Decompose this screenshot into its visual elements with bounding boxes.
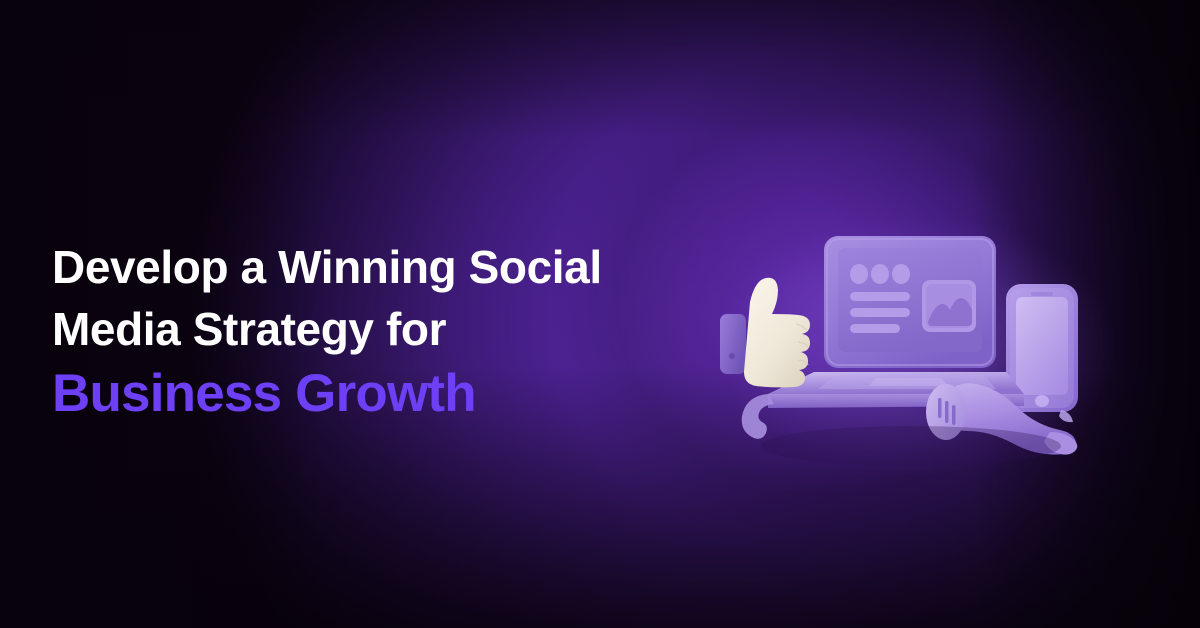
laptop-screen-image-card — [922, 280, 976, 332]
hand-cuff-button — [729, 353, 735, 359]
smartphone-home-button — [1035, 395, 1049, 407]
social-media-3d-illustration — [706, 196, 1126, 476]
grille-slit — [938, 398, 942, 418]
smartphone-earpiece — [1031, 292, 1053, 296]
grille-slit — [952, 405, 956, 425]
hand-cuff — [720, 314, 746, 374]
text-bar — [850, 324, 900, 333]
avatar — [871, 264, 889, 284]
avatar — [850, 264, 868, 284]
headline-block: Develop a Winning Social Media Strategy … — [52, 236, 712, 428]
text-bar — [850, 292, 910, 301]
laptop-screen-avatars — [850, 264, 910, 284]
headline-line-2: Media Strategy for — [52, 298, 712, 360]
social-media-banner: Develop a Winning Social Media Strategy … — [0, 0, 1200, 628]
text-bar — [850, 308, 910, 317]
smartphone-display — [1016, 297, 1068, 395]
headline-line-3-accent: Business Growth — [52, 360, 712, 428]
laptop-trackpad — [869, 378, 948, 386]
headline-line-1: Develop a Winning Social — [52, 236, 712, 298]
grille-slit — [945, 401, 949, 423]
illustration-contact-shadow — [761, 426, 1061, 466]
avatar — [892, 264, 910, 284]
